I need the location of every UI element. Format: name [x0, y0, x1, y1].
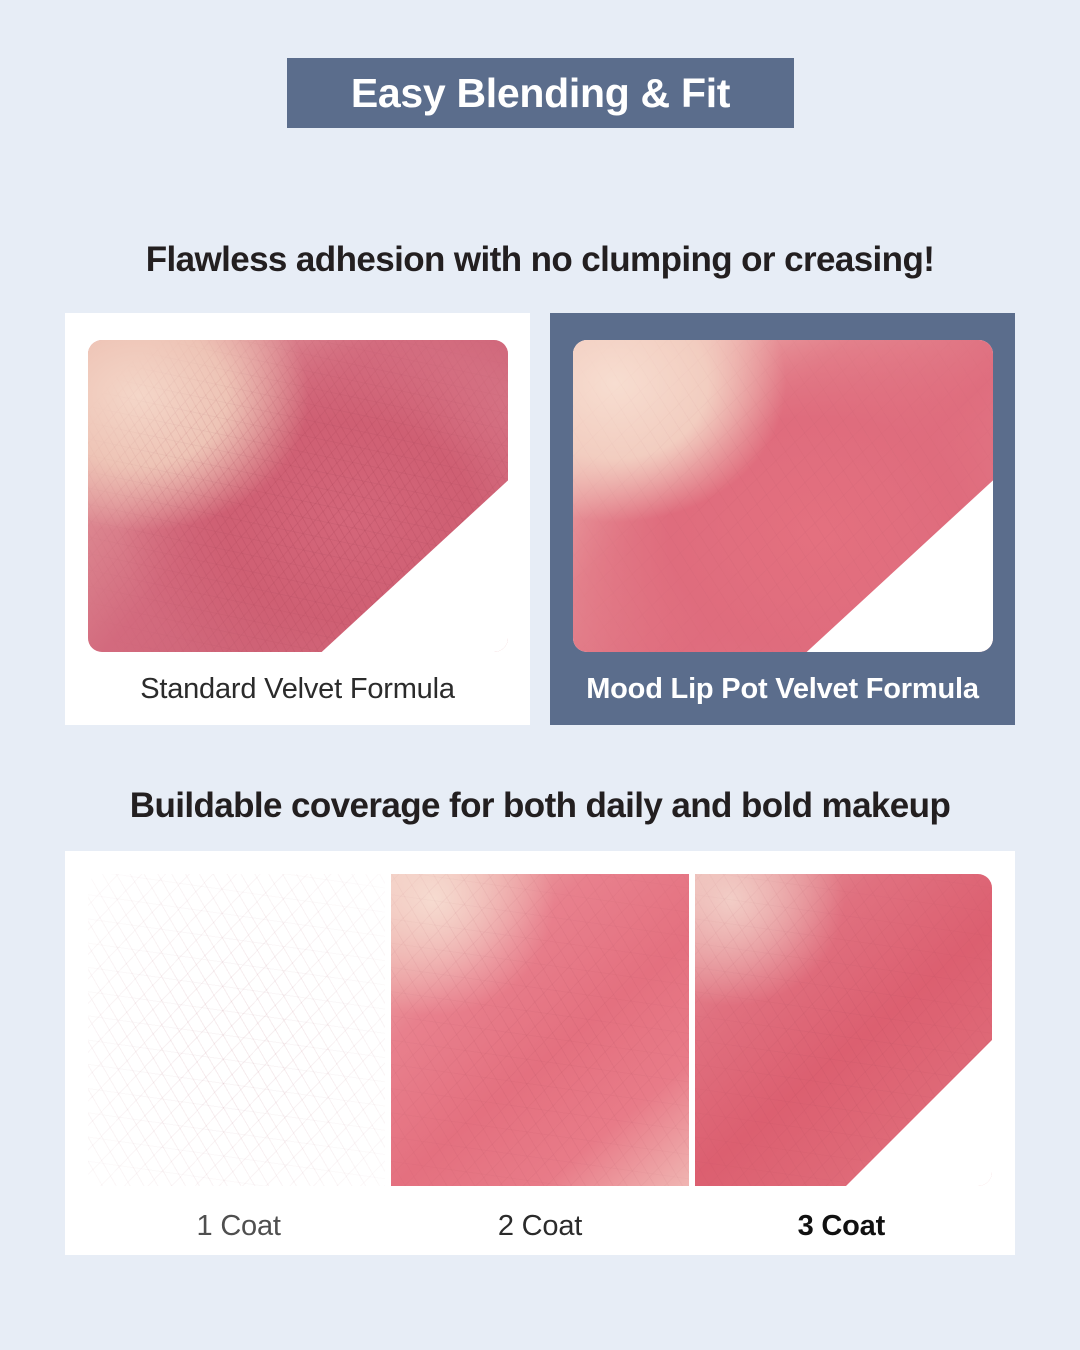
- comparison-card-mood-lip-pot: Mood Lip Pot Velvet Formula: [550, 313, 1015, 725]
- coats-label-row: 1 Coat 2 Coat 3 Coat: [88, 1210, 992, 1243]
- comparison-row: Standard Velvet Formula Mood Lip Pot Vel…: [65, 313, 1015, 725]
- palm-swatch-three-coat-image: [695, 874, 992, 1186]
- coats-swatch-strip: [88, 874, 992, 1186]
- comparison-card-standard: Standard Velvet Formula: [65, 313, 530, 725]
- comparison-label-mood-lip-pot: Mood Lip Pot Velvet Formula: [586, 674, 979, 706]
- coat-label-3: 3 Coat: [691, 1210, 992, 1243]
- header-banner: Easy Blending & Fit: [287, 58, 794, 128]
- comparison-label-standard: Standard Velvet Formula: [140, 674, 455, 706]
- product-infographic-page: Easy Blending & Fit Flawless adhesion wi…: [0, 0, 1080, 1350]
- coat-label-2: 2 Coat: [389, 1210, 690, 1243]
- swatch-photo-standard: [88, 340, 508, 652]
- palm-swatch-two-coat-image: [391, 874, 688, 1186]
- palm-swatch-one-coat-image: [88, 874, 385, 1186]
- section-heading-adhesion: Flawless adhesion with no clumping or cr…: [0, 240, 1080, 280]
- swatch-photo-mood-lip-pot: [573, 340, 993, 652]
- buildable-coverage-card: 1 Coat 2 Coat 3 Coat: [65, 851, 1015, 1255]
- skin-texture-overlay: [391, 874, 688, 1186]
- page-title: Easy Blending & Fit: [351, 73, 730, 114]
- coat-label-1: 1 Coat: [88, 1210, 389, 1243]
- skin-texture-overlay: [88, 874, 385, 1186]
- section-heading-buildable: Buildable coverage for both daily and bo…: [0, 786, 1080, 826]
